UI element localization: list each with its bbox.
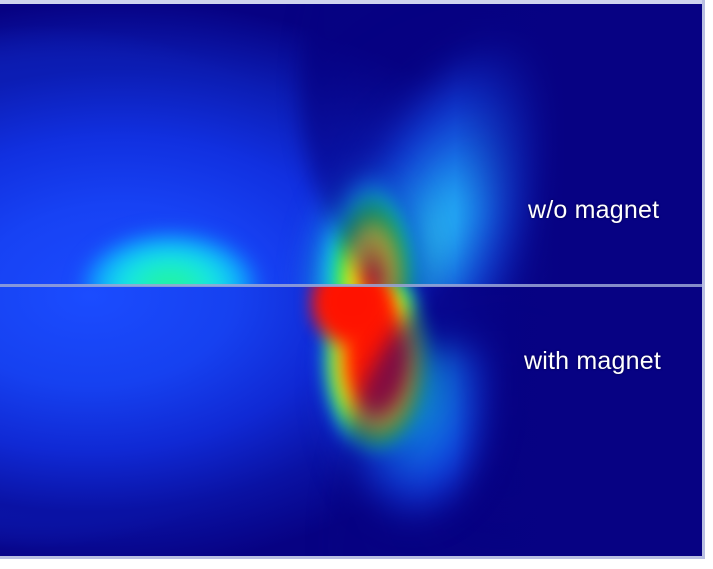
- heatmap-figure: w/o magnet with magnet: [0, 0, 705, 559]
- heatmap-panel-with-magnet: [0, 286, 705, 559]
- figure-top-border: [0, 0, 705, 4]
- panel-label-without-magnet: w/o magnet: [528, 196, 659, 225]
- panel-divider-line: [0, 284, 705, 287]
- navy-right-gradient-bottom: [455, 286, 705, 559]
- panel-label-with-magnet: with magnet: [524, 347, 661, 376]
- heatmap-panel-without-magnet: [0, 0, 705, 286]
- figure-bottom-border: [0, 556, 705, 559]
- secondary-warm-spot-top: [70, 196, 270, 286]
- primary-hotspot-core-plateau-bottom: [306, 286, 398, 352]
- screenshot-root: w/o magnet with magnet: [0, 0, 713, 569]
- figure-right-border: [702, 0, 705, 559]
- navy-right-gradient-top: [455, 0, 705, 286]
